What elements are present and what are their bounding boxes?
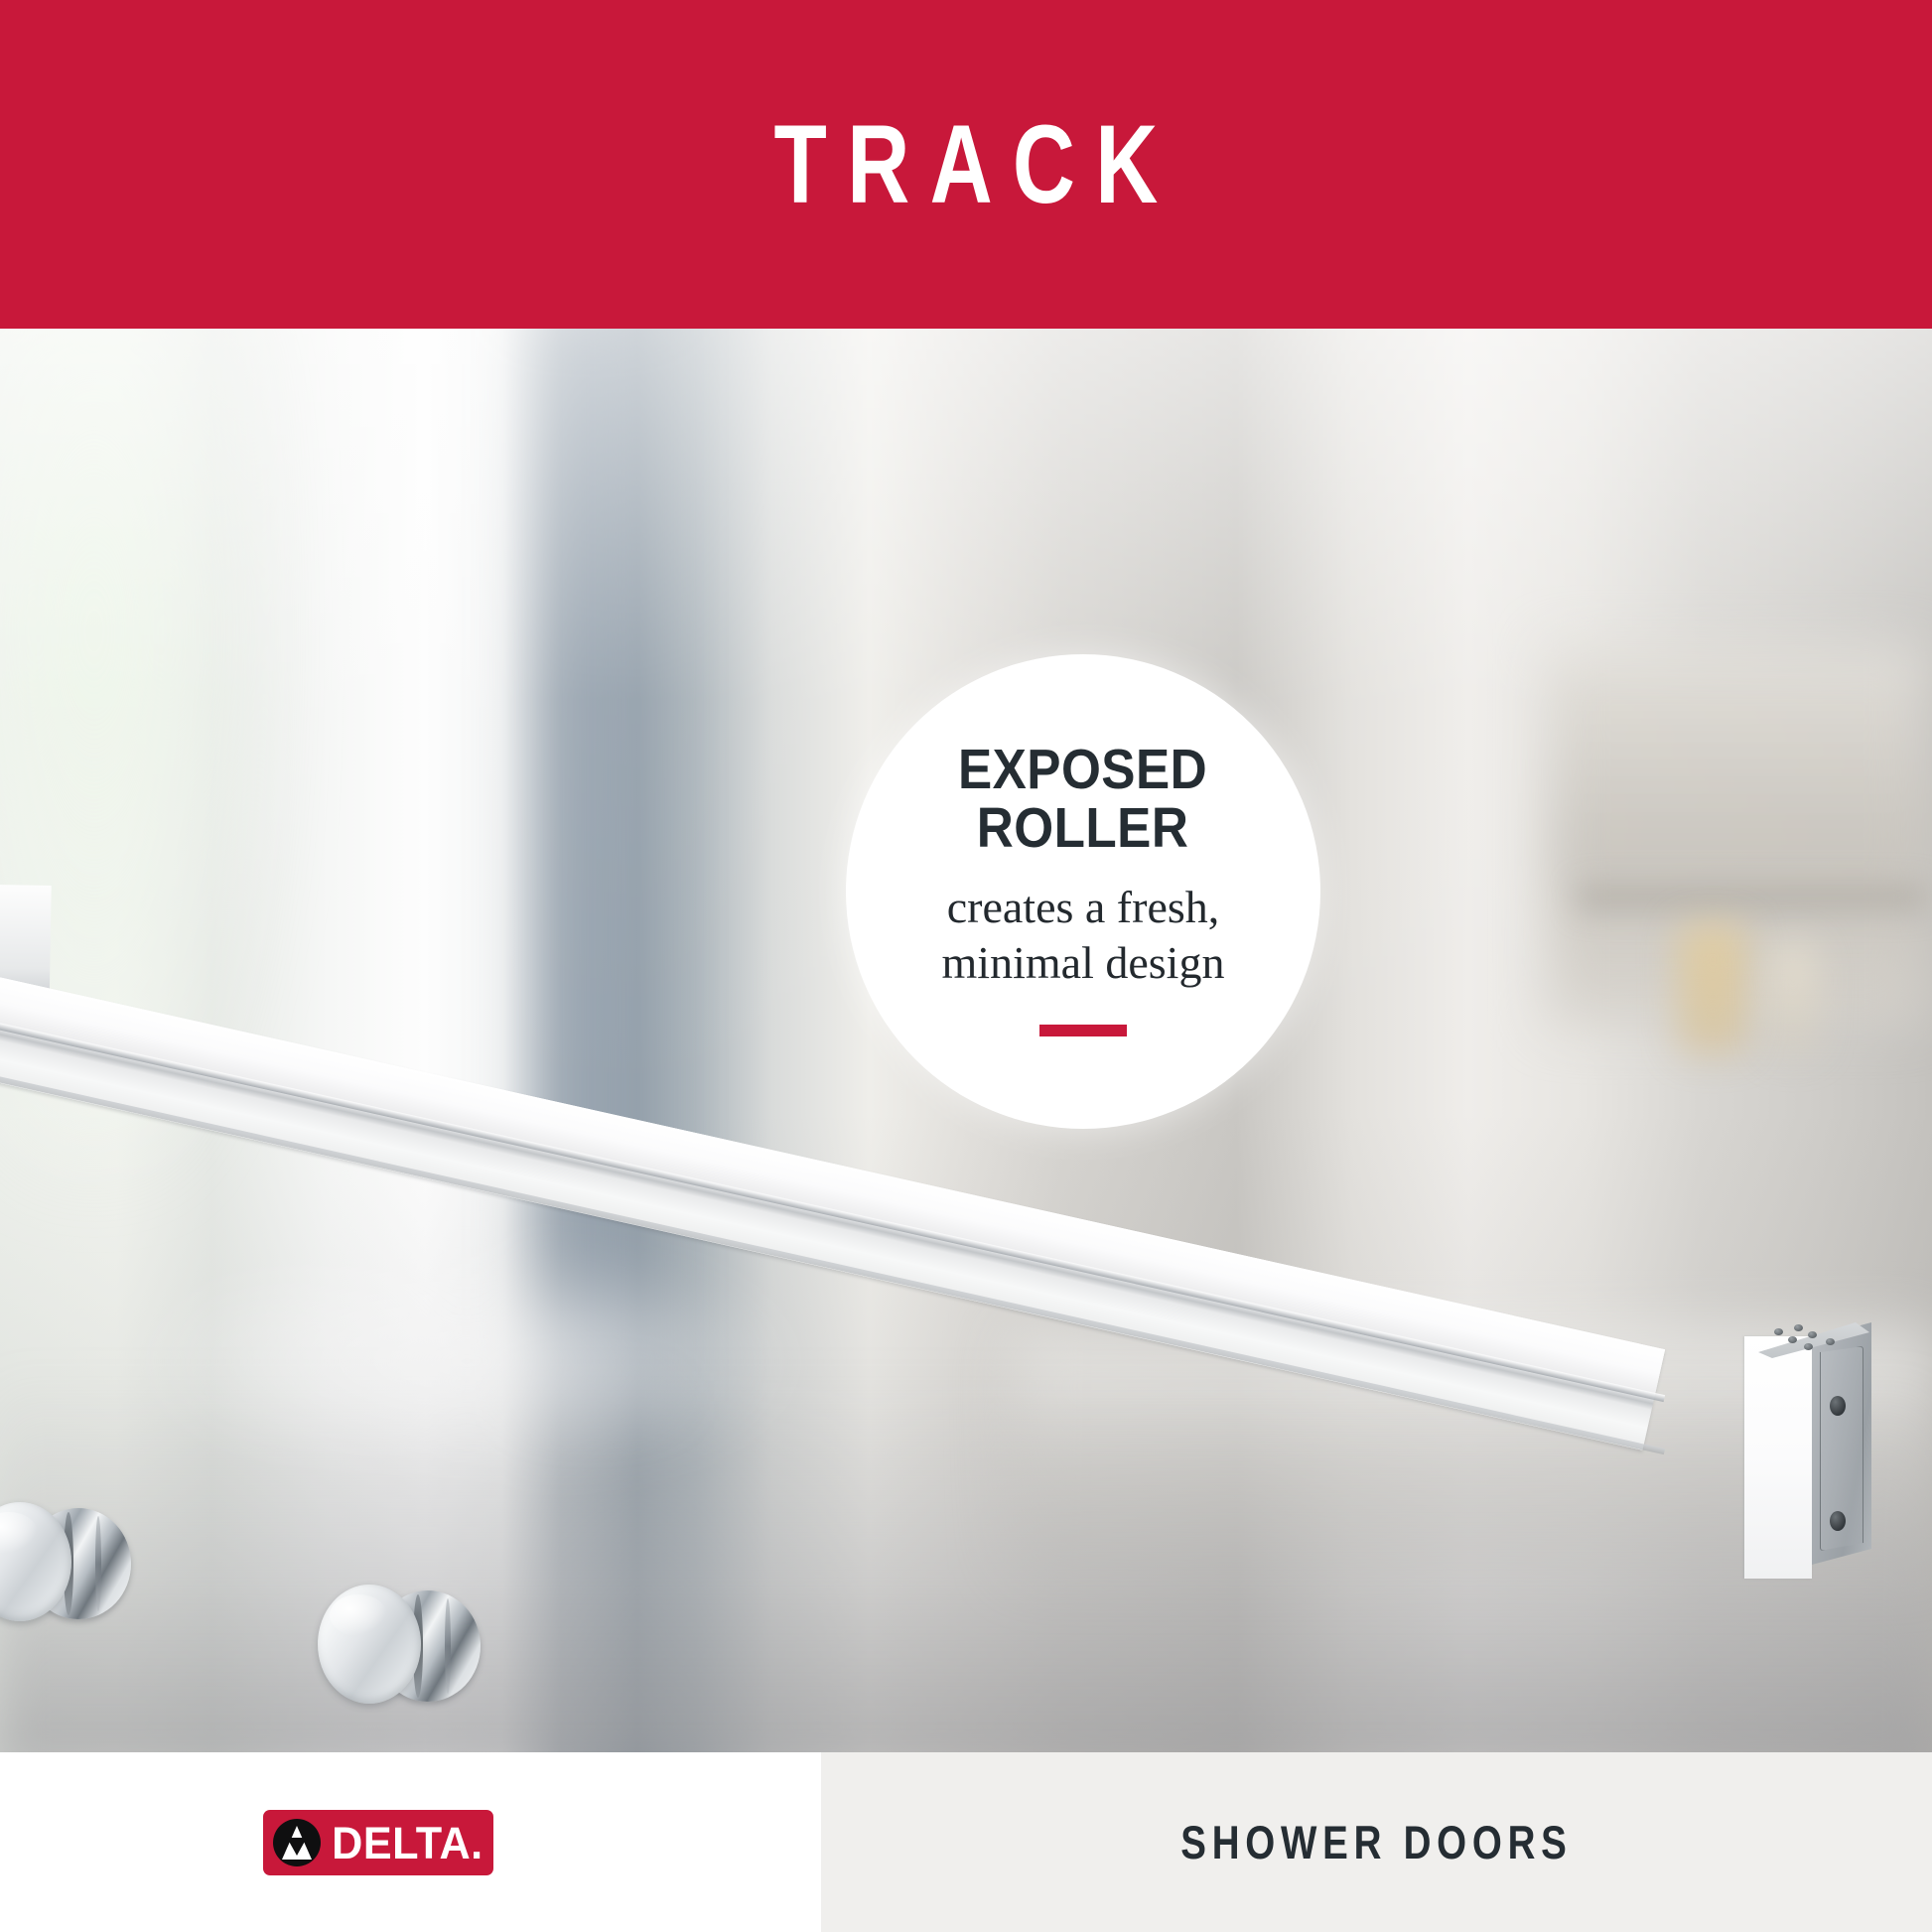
feature-callout-badge: EXPOSED ROLLER creates a fresh, minimal … (846, 654, 1320, 1129)
roller-cap-highlight (330, 1594, 387, 1636)
callout-subtext-line-2: minimal design (942, 935, 1225, 991)
bracket-screw-hole (1830, 1511, 1846, 1531)
bracket-front-face (1744, 1336, 1812, 1579)
delta-wordmark: DELTA. (332, 1821, 483, 1865)
product-photo: EXPOSED ROLLER creates a fresh, minimal … (0, 329, 1932, 1752)
footer-tagline: SHOWER DOORS (1180, 1815, 1572, 1869)
roller-groove-secondary (95, 1516, 101, 1611)
footer-tagline-area: SHOWER DOORS (821, 1752, 1932, 1932)
delta-logo[interactable]: DELTA. (263, 1810, 493, 1875)
callout-divider-rule (1039, 1025, 1127, 1036)
header-banner: TRACK (0, 0, 1932, 329)
callout-subtext-line-1: creates a fresh, (942, 880, 1225, 935)
roller-cap-highlight (0, 1512, 38, 1554)
track-bar-group (0, 964, 1757, 1580)
roller-groove-secondary (445, 1598, 451, 1694)
bracket-screw-hole (1830, 1396, 1846, 1416)
callout-headline-line-2: ROLLER (958, 799, 1207, 858)
bracket-top-hole (1826, 1338, 1835, 1345)
callout-subtext: creates a fresh, minimal design (942, 880, 1225, 991)
bracket-top-hole (1804, 1343, 1813, 1350)
exposed-roller-second (318, 1585, 496, 1708)
callout-headline-line-1: EXPOSED (958, 741, 1207, 799)
roller-cap (318, 1585, 421, 1704)
track-wall-bracket (1744, 1322, 1871, 1579)
track-bar-top-face (0, 964, 1665, 1394)
footer-brand-area: DELTA. (0, 1752, 821, 1932)
delta-triangle-notch (287, 1838, 307, 1856)
bracket-top-hole (1808, 1331, 1817, 1338)
page-title: TRACK (754, 109, 1177, 220)
exposed-roller-first (0, 1502, 147, 1625)
bracket-top-hole (1788, 1336, 1797, 1343)
delta-triangle-icon (273, 1819, 321, 1866)
bracket-top-hole (1794, 1324, 1803, 1331)
callout-headline: EXPOSED ROLLER (958, 741, 1207, 859)
footer-bar: DELTA. SHOWER DOORS (0, 1752, 1932, 1932)
bracket-top-hole (1774, 1328, 1783, 1335)
product-feature-card: TRACK (0, 0, 1932, 1932)
